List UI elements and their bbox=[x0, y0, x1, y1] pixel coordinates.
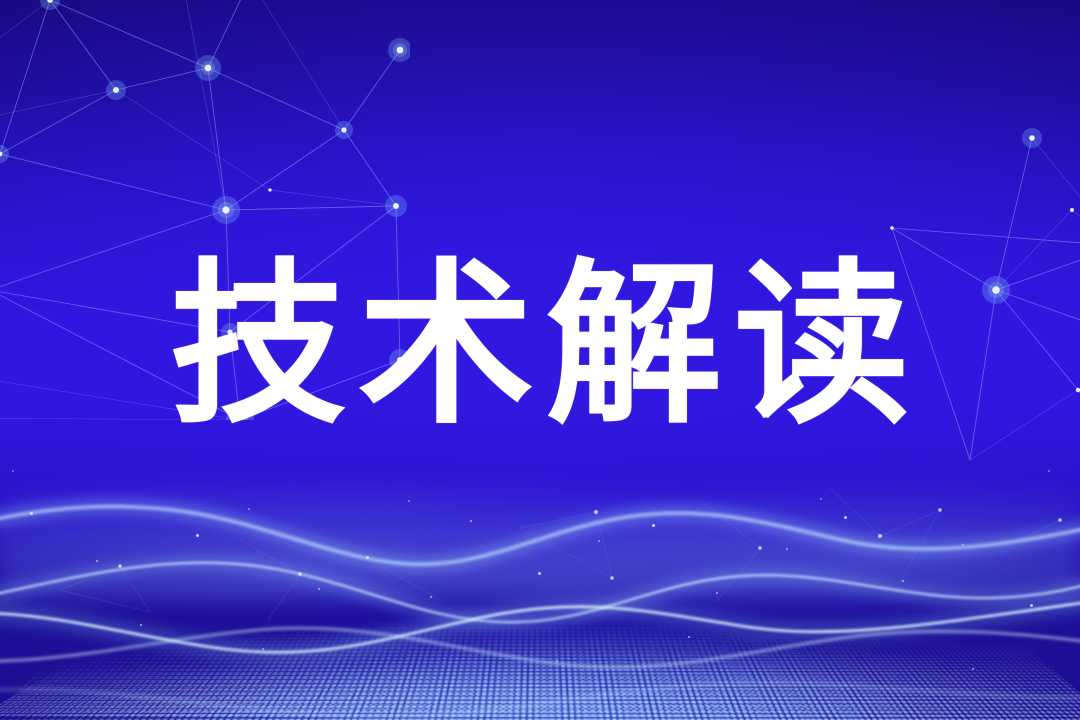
page-title: 技术解读 bbox=[0, 243, 1080, 448]
poster-canvas: 技术解读 bbox=[0, 0, 1080, 720]
particle-grid-front bbox=[0, 652, 1080, 716]
wave-ridge-1 bbox=[0, 460, 1080, 606]
particle-wave-mesh bbox=[0, 460, 1080, 720]
wave-glow-upper bbox=[0, 460, 1080, 600]
